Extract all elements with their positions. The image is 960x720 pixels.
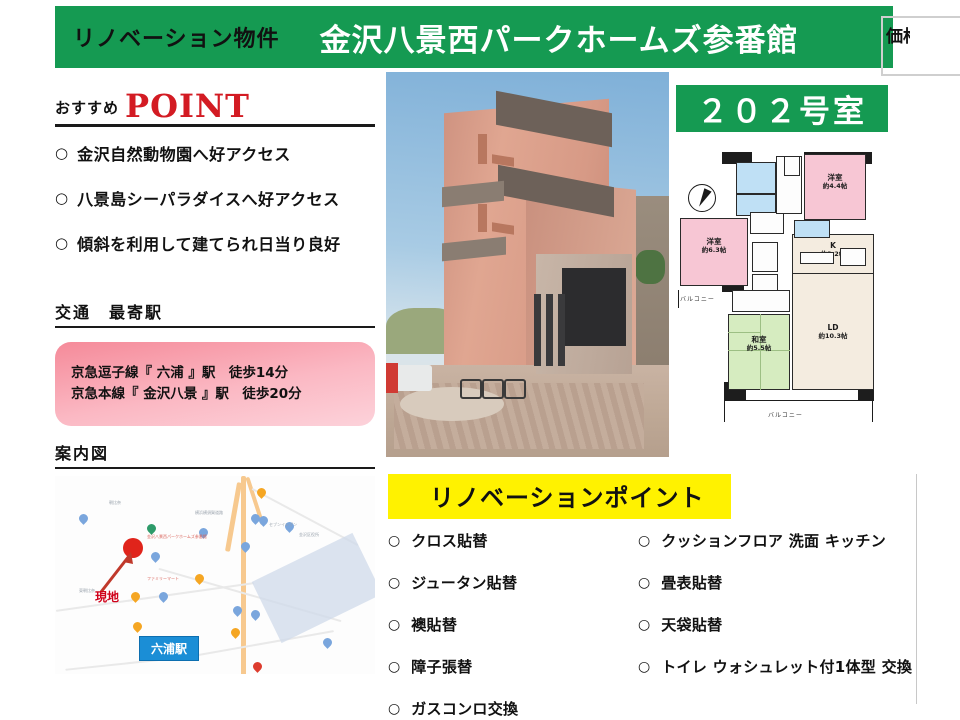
renovation-item: ○ ガスコンロ交換 — [388, 698, 638, 719]
counter — [800, 252, 834, 264]
tree — [635, 250, 665, 284]
site-label: 現地 — [95, 588, 119, 605]
renovation-item-label: 襖貼替 — [411, 614, 457, 635]
renovation-item: ○ クロス貼替 — [388, 530, 638, 551]
renovation-section: リノベーションポイント ○ クロス貼替 ○ クッションフロア 洗面 キッチン ○… — [388, 474, 928, 719]
transit-line: 京急逗子線『 六浦 』駅 徒歩14分 — [71, 363, 375, 384]
balcony-label-bottom: バルコニー — [768, 410, 803, 419]
renovation-heading: リノベーションポイント — [388, 474, 731, 519]
toilet — [794, 220, 830, 238]
circle-bullet-icon: ○ — [388, 576, 400, 590]
bicycle — [460, 379, 482, 399]
renovation-item: ○ 障子張替 — [388, 656, 638, 677]
circle-bullet-icon: ○ — [55, 236, 68, 251]
map-heading: 案内図 — [55, 440, 375, 469]
transit-box: 京急逗子線『 六浦 』駅 徒歩14分 京急本線『 金沢八景 』駅 徒歩20分 — [55, 342, 375, 426]
genkan — [732, 290, 790, 312]
circle-bullet-icon: ○ — [638, 576, 650, 590]
left-column: おすすめ POINT ○ 金沢自然動物園へ好アクセス ○ 八景島シーパラダイスへ… — [55, 90, 375, 674]
circle-bullet-icon: ○ — [388, 660, 400, 674]
transit-line: 京急本線『 金沢八景 』駅 徒歩20分 — [71, 384, 375, 405]
point-item: ○ 八景島シーパラダイスへ好アクセス — [55, 186, 375, 210]
point-word: POINT — [125, 90, 250, 122]
header-subtitle: リノベーション物件 — [73, 21, 280, 53]
flyer-page: リノベーション物件 金沢八景西パークホームズ参番館 価格 おすすめ POINT … — [0, 0, 960, 720]
renovation-item: ○ 襖貼替 — [388, 614, 638, 635]
entrance-opening — [562, 268, 626, 346]
map-place-label: 横浜横須賀道路 — [195, 510, 223, 516]
map-place-label: 朝比奈 — [109, 500, 121, 506]
room-label-yoshitsu-4-4: 洋室 約4.4帖 — [804, 174, 866, 190]
circle-bullet-icon: ○ — [638, 618, 650, 632]
map-place-label: ファミリーマート — [147, 576, 179, 582]
compass-north-icon — [688, 184, 716, 212]
renovation-item-label: ガスコンロ交換 — [411, 698, 518, 719]
point-item: ○ 金沢自然動物園へ好アクセス — [55, 141, 375, 165]
bicycle — [504, 379, 526, 399]
building-photo — [386, 72, 669, 457]
point-heading: おすすめ POINT — [55, 90, 375, 127]
room-label-yoshitsu-6-3: 洋室 約6.3帖 — [680, 238, 748, 254]
renovation-item: ○ ジュータン貼替 — [388, 572, 638, 593]
renovation-item: ○ 畳表貼替 — [638, 572, 928, 593]
renovation-list: ○ クロス貼替 ○ クッションフロア 洗面 キッチン ○ ジュータン貼替 ○ 畳… — [388, 530, 928, 719]
renovation-item-label: トイレ ウォシュレット付1体型 交換 — [661, 656, 912, 677]
map-place-label: 金沢八景西パークホームズ参番館 — [147, 534, 207, 540]
renovation-item: ○ トイレ ウォシュレット付1体型 交換 — [638, 656, 928, 677]
renovation-item: ○ クッションフロア 洗面 キッチン — [638, 530, 928, 551]
stove-unit — [840, 248, 866, 266]
circle-bullet-icon: ○ — [388, 618, 400, 632]
renovation-item: ○ 天袋貼替 — [638, 614, 928, 635]
bathroom — [736, 162, 776, 194]
point-item-label: 金沢自然動物園へ好アクセス — [77, 141, 291, 165]
transit-heading: 交通 最寄駅 — [55, 299, 375, 328]
parked-van — [392, 365, 432, 391]
circle-bullet-icon: ○ — [388, 702, 400, 716]
point-item-label: 傾斜を利用して建てられ日当り良好 — [77, 231, 341, 255]
bicycle — [482, 379, 504, 399]
point-item: ○ 傾斜を利用して建てられ日当り良好 — [55, 231, 375, 255]
vertical-divider — [916, 474, 917, 704]
property-title: 金沢八景西パークホームズ参番館 — [320, 15, 799, 60]
point-item-label: 八景島シーパラダイスへ好アクセス — [77, 186, 340, 210]
renovation-item-label: クッションフロア 洗面 キッチン — [661, 530, 886, 551]
map-place-label: 東朝比奈 — [79, 588, 95, 594]
circle-bullet-icon: ○ — [55, 191, 68, 206]
point-list: ○ 金沢自然動物園へ好アクセス ○ 八景島シーパラダイスへ好アクセス ○ 傾斜を… — [55, 141, 375, 255]
location-map[interactable]: 朝比奈 横浜横須賀道路 セブンイレブン 金沢八景西パークホームズ参番館 金沢区役… — [55, 476, 375, 674]
renovation-item-label: 畳表貼替 — [661, 572, 722, 593]
room-label-ld: LD 約10.3帖 — [792, 324, 874, 340]
transit-section: 交通 最寄駅 京急逗子線『 六浦 』駅 徒歩14分 京急本線『 金沢八景 』駅 … — [55, 299, 375, 426]
map-place-label: 金沢区役所 — [299, 532, 319, 538]
map-section: 案内図 — [55, 440, 375, 674]
circle-bullet-icon: ○ — [55, 146, 68, 161]
renovation-item-label: クロス貼替 — [411, 530, 488, 551]
balcony-label-left: バルコニー — [680, 294, 715, 303]
station-label: 六浦駅 — [139, 636, 199, 661]
circle-bullet-icon: ○ — [388, 534, 400, 548]
closet-a — [752, 242, 778, 272]
price-label-clipped: 価格 — [886, 22, 910, 62]
room-number-badge: ２０２号室 — [676, 85, 888, 132]
header-banner: リノベーション物件 金沢八景西パークホームズ参番館 — [55, 6, 893, 68]
map-place-label: セブンイレブン — [269, 522, 297, 528]
circle-bullet-icon: ○ — [638, 534, 650, 548]
room-label-washitsu: 和室 約5.5帖 — [728, 336, 790, 352]
renovation-item-label: 障子張替 — [411, 656, 472, 677]
circle-bullet-icon: ○ — [638, 660, 650, 674]
floor-plan: 洋室 約4.4帖 洋室 約6.3帖 和室 約5.5帖 LD 約10.3帖 K 約… — [676, 142, 944, 462]
storage-top — [784, 156, 800, 176]
renovation-item-label: ジュータン貼替 — [411, 572, 517, 593]
parked-car — [386, 363, 398, 393]
entry-hall — [750, 212, 784, 234]
point-prefix: おすすめ — [55, 97, 119, 122]
renovation-item-label: 天袋貼替 — [661, 614, 722, 635]
